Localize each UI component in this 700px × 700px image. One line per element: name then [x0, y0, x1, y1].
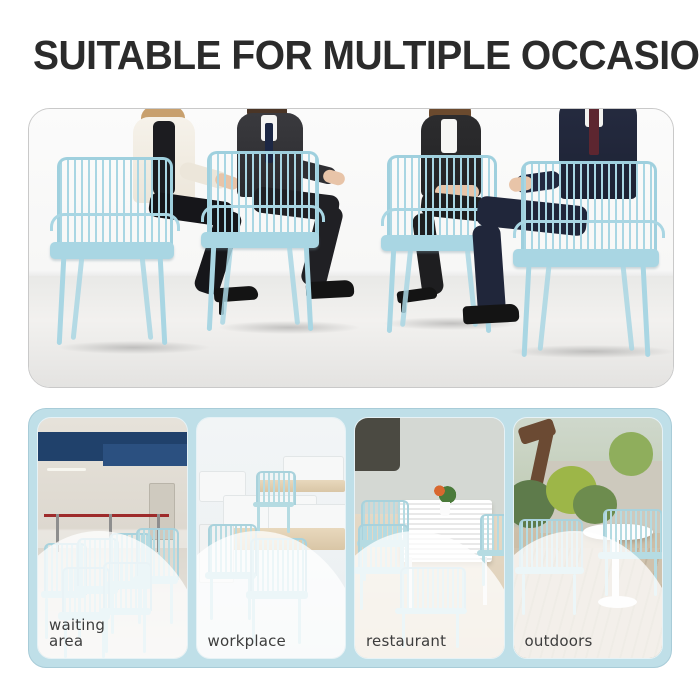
shoe: [463, 304, 520, 325]
doorway: [355, 418, 400, 471]
hero-chair-2: [207, 151, 313, 331]
chair-leg: [207, 246, 216, 331]
hero-chair-1: [57, 157, 167, 345]
chair-backrest: [521, 161, 657, 254]
chair-leg: [220, 246, 233, 325]
occasion-label: outdoors: [525, 633, 593, 649]
queue-rope: [44, 514, 169, 517]
chair-leg: [537, 265, 551, 351]
blouse: [441, 119, 457, 153]
ceiling-light: [47, 468, 86, 471]
chair-leg: [521, 265, 531, 357]
chair-leg: [400, 249, 413, 327]
chair-leg: [57, 257, 67, 345]
occasion-panel-restaurant[interactable]: restaurant: [354, 417, 505, 659]
occasion-label: restaurant: [366, 633, 446, 649]
chair-leg: [70, 257, 84, 340]
chair-armrest: [201, 205, 326, 222]
chair: [256, 471, 292, 533]
page-title: SUITABLE FOR MULTIPLE OCCASIONS: [33, 31, 700, 79]
occasion-label: workplace: [208, 633, 286, 649]
chair-leg: [287, 246, 300, 325]
chair-armrest: [513, 220, 665, 239]
chair-backrest: [207, 151, 319, 237]
product-feature-image: SUITABLE FOR MULTIPLE OCCASIONS: [0, 0, 700, 700]
ceiling-soffit: [103, 444, 186, 466]
chair-leg: [140, 257, 154, 340]
chair-leg: [641, 265, 651, 357]
chair-leg: [621, 265, 635, 351]
chair-backrest: [57, 157, 173, 246]
chair-seat: [513, 249, 659, 267]
chair-armrest: [50, 213, 179, 231]
occasion-panel-waiting-area[interactable]: waiting area: [37, 417, 188, 659]
hero-chair-4: [521, 161, 651, 357]
occasion-panel-workplace[interactable]: workplace: [196, 417, 347, 659]
vase: [440, 502, 450, 516]
chair-leg: [304, 246, 313, 331]
chair-seat: [50, 242, 173, 259]
hero-scene: [29, 109, 673, 387]
shrub: [609, 432, 654, 475]
necktie: [589, 109, 599, 155]
occasion-panel-outdoors[interactable]: outdoors: [513, 417, 664, 659]
chair-seat: [201, 232, 320, 248]
occasions-strip: waiting area: [28, 408, 672, 668]
chair-leg: [387, 249, 396, 333]
hero-photo-card: [28, 108, 674, 388]
chair-leg: [158, 257, 168, 345]
occasion-label: waiting area: [49, 617, 105, 649]
